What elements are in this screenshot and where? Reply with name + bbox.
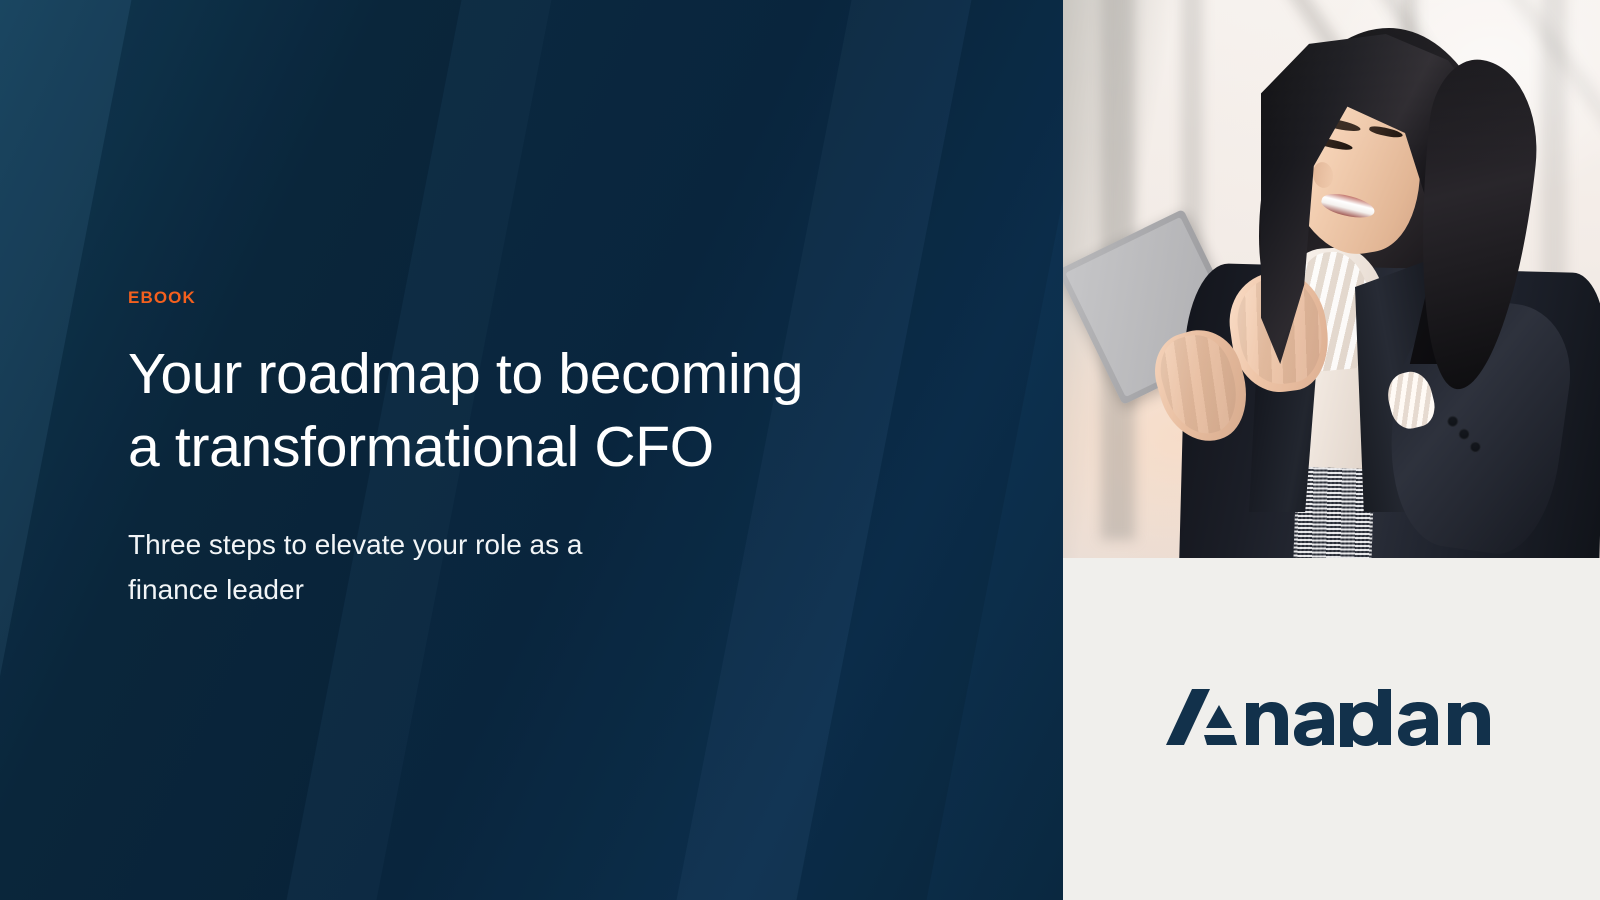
page-title: Your roadmap to becoming a transformatio… [128, 338, 958, 484]
logo-a-dash [1204, 735, 1237, 745]
right-column: Anaplan [1063, 0, 1600, 900]
ebook-cover: EBOOK Your roadmap to becoming a transfo… [0, 0, 1600, 900]
page-subtitle: Three steps to elevate your role as a fi… [128, 522, 958, 612]
logo-letter-l [1378, 689, 1391, 745]
brand-logo-panel: Anaplan [1063, 558, 1600, 900]
logo-letter-n [1246, 702, 1288, 745]
logo-letter-a [1294, 702, 1334, 746]
logo-a-triangle [1206, 705, 1232, 728]
anaplan-logo: Anaplan [1162, 689, 1502, 747]
logo-letter-n2 [1448, 702, 1490, 745]
logo-a-slash [1166, 689, 1210, 745]
eyebrow-label: EBOOK [128, 288, 958, 308]
left-hero-panel: EBOOK Your roadmap to becoming a transfo… [0, 0, 1063, 900]
hero-photo [1063, 0, 1600, 558]
logo-letter-a2 [1398, 702, 1438, 746]
hero-text-block: EBOOK Your roadmap to becoming a transfo… [128, 0, 958, 900]
